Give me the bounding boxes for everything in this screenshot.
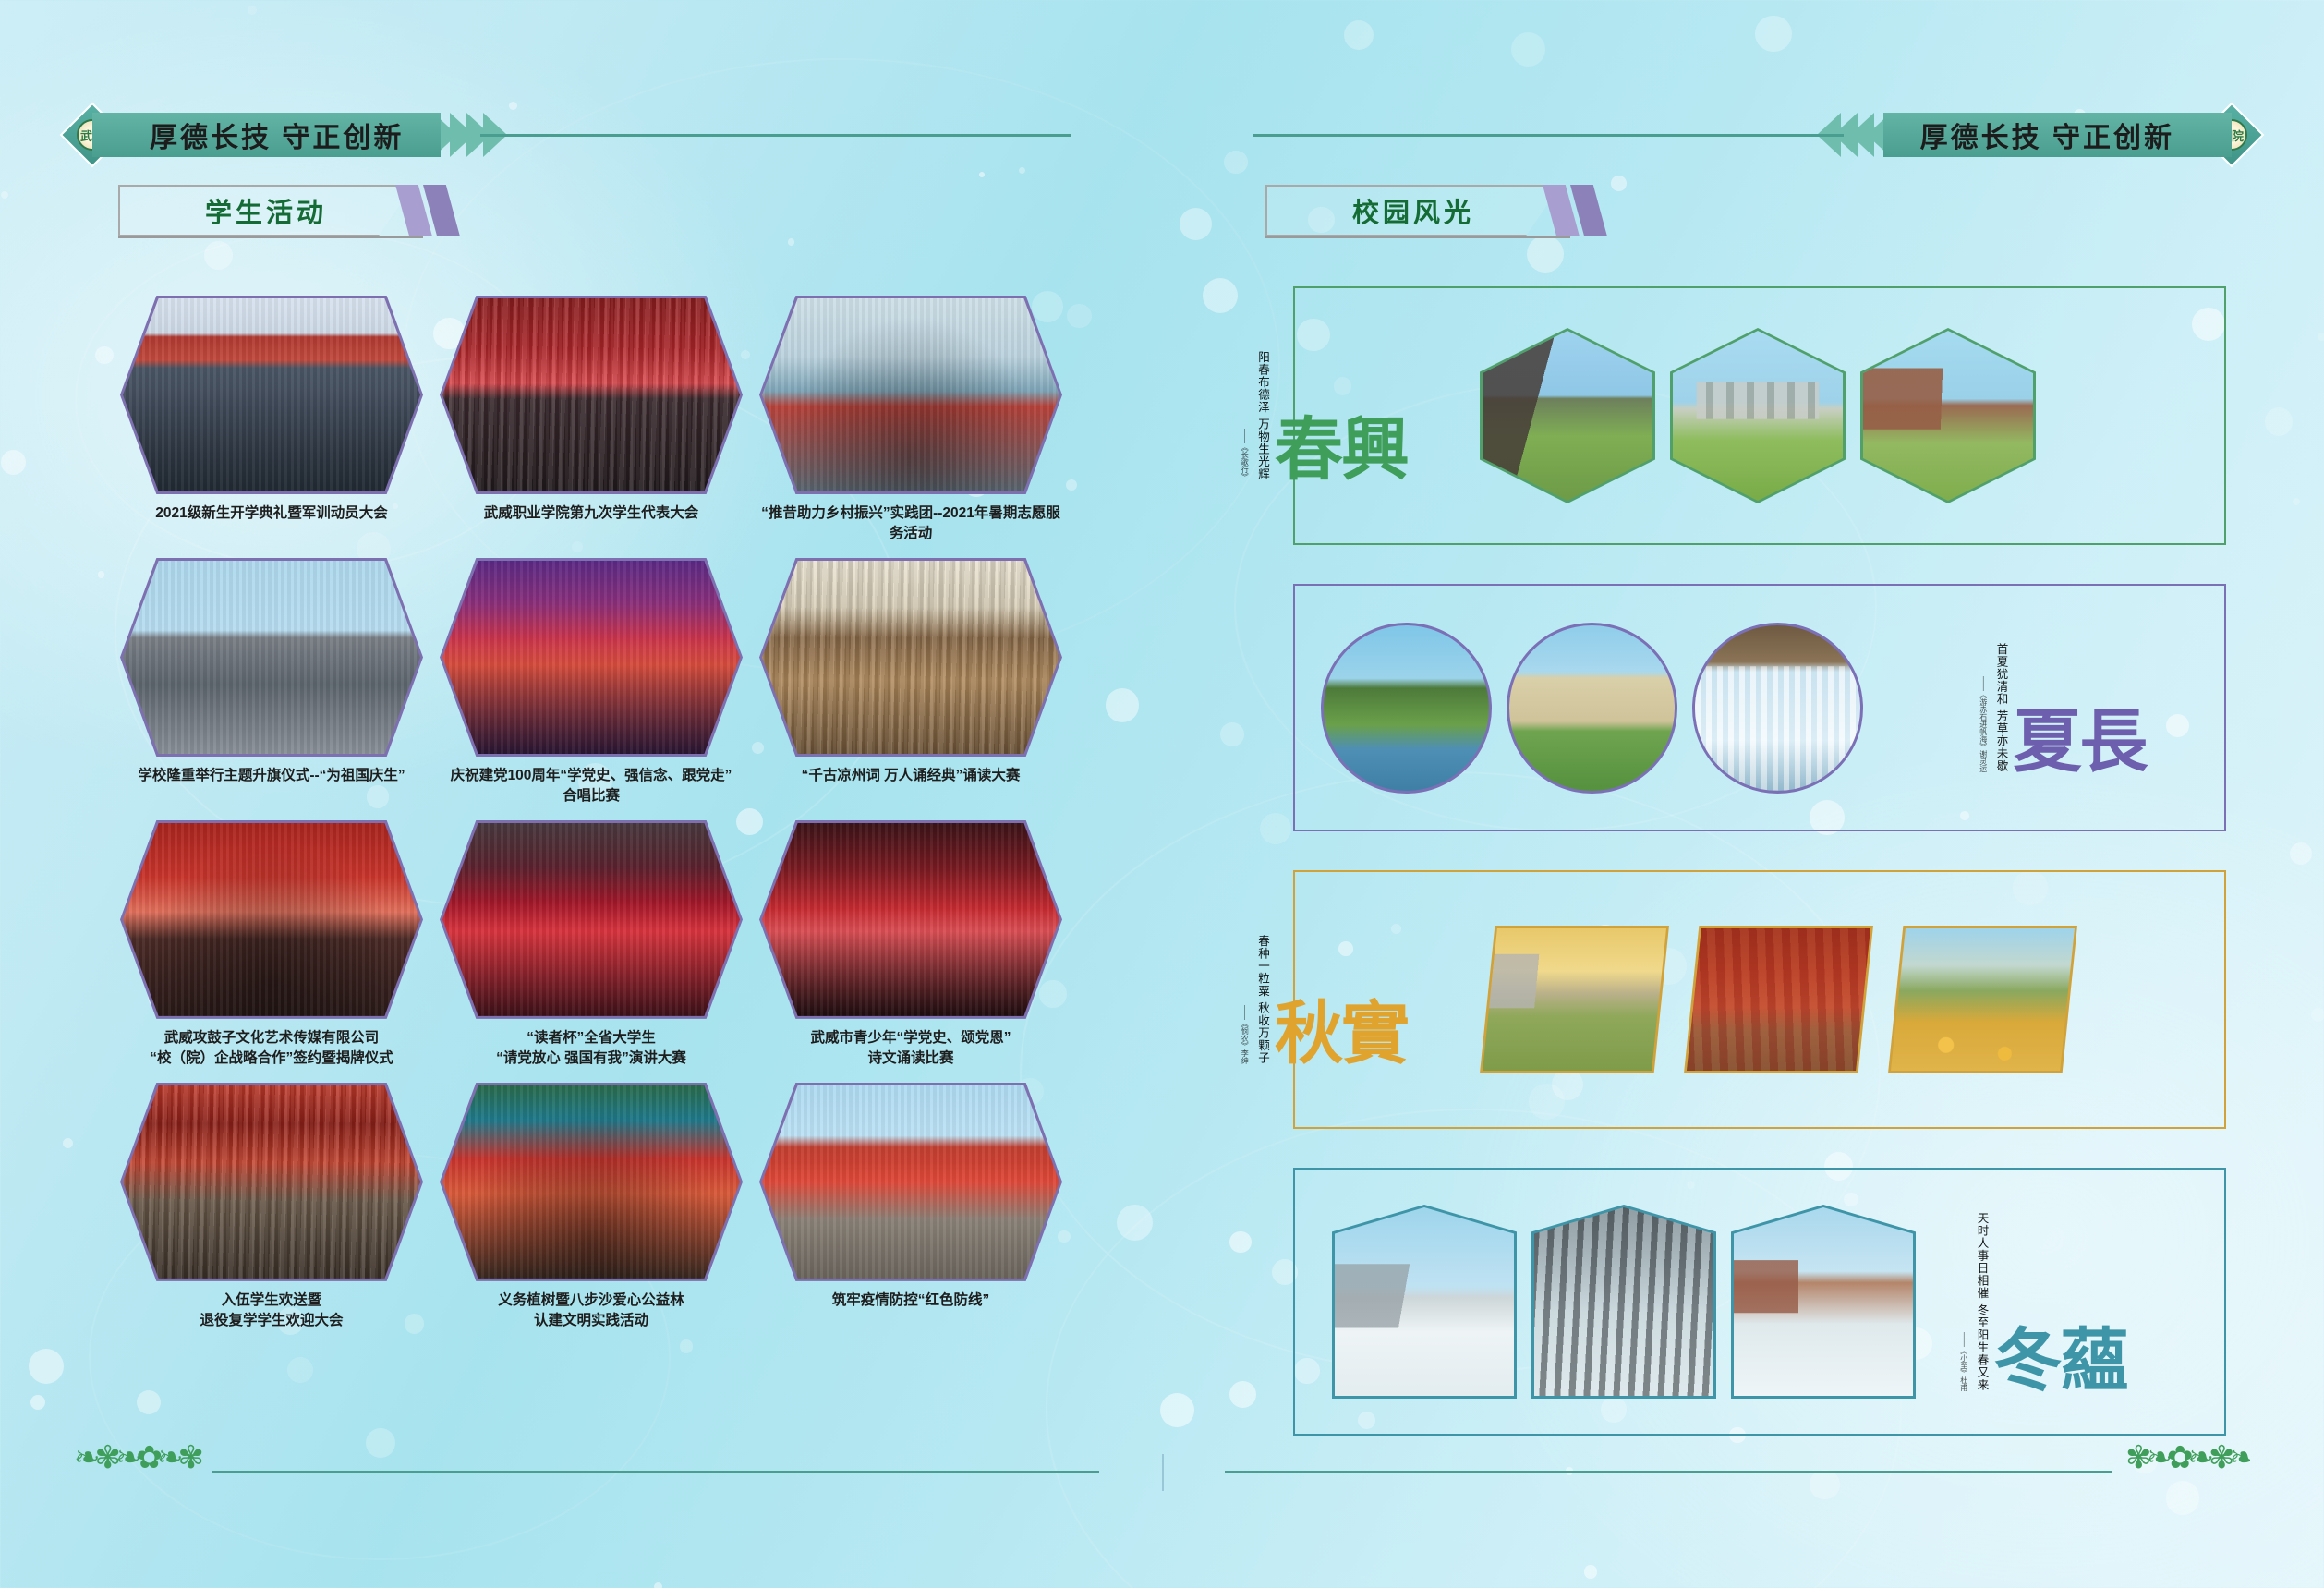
section-baseline-left bbox=[118, 236, 423, 238]
activity-caption: 庆祝建党100周年“学党史、强信念、跟党走” 合唱比赛 bbox=[440, 766, 743, 807]
activity-card[interactable]: 2021级新生开学典礼暨军训动员大会 bbox=[120, 296, 423, 545]
activity-card[interactable]: 入伍学生欢送暨 退役复学学生欢迎大会 bbox=[120, 1083, 423, 1332]
section-title-text-left: 学生活动 bbox=[205, 191, 327, 230]
header-rule-left bbox=[480, 134, 1071, 137]
vine-ornament-icon: ❧✾❧✿❧✾ bbox=[74, 1442, 231, 1499]
activity-row: 学校隆重举行主题升旗仪式--“为祖国庆生”庆祝建党100周年“学党史、强信念、跟… bbox=[120, 558, 1062, 807]
season-thumb[interactable] bbox=[1480, 328, 1655, 503]
activity-caption: 2021级新生开学典礼暨军训动员大会 bbox=[120, 503, 423, 524]
footer-rule-right bbox=[1225, 1471, 2112, 1473]
section-baseline-right bbox=[1265, 236, 1570, 238]
activity-card[interactable]: 筑牢疫情防控“红色防线” bbox=[759, 1083, 1062, 1332]
season-panel-winter: ——《小至》杜甫 天时人事日相催 冬至阳生春又来 冬蘊 bbox=[1293, 1168, 2226, 1436]
calligraphy-char-winter: 冬蘊 bbox=[1994, 1332, 2127, 1391]
calligraphy-char-summer: 夏長 bbox=[2014, 713, 2147, 772]
header-motto-bar-right: 厚德长技 守正创新 bbox=[1883, 113, 2232, 157]
season-panel-autumn: ——《悯农》李绅 春种一粒粟 秋收万颗子 秋實 bbox=[1293, 870, 2226, 1129]
activity-photo[interactable] bbox=[759, 296, 1062, 494]
calligraphy-cite-spring: ——《长歌行》 bbox=[1240, 429, 1250, 480]
page-gutter-divider bbox=[1162, 1454, 1164, 1491]
activity-photo[interactable] bbox=[120, 296, 423, 494]
section-title-plate-right: 校园风光 bbox=[1265, 185, 1561, 236]
activity-caption: 武威攻鼓子文化艺术传媒有限公司 “校（院）企战略合作”签约暨揭牌仪式 bbox=[120, 1028, 423, 1070]
activity-caption: 武威市青少年“学党史、颂党恩” 诗文诵读比赛 bbox=[759, 1028, 1062, 1070]
activity-caption: 义务植树暨八步沙爱心公益林 认建文明实践活动 bbox=[440, 1291, 743, 1332]
activity-photo[interactable] bbox=[120, 1083, 423, 1281]
activity-row: 入伍学生欢送暨 退役复学学生欢迎大会义务植树暨八步沙爱心公益林 认建文明实践活动… bbox=[120, 1083, 1062, 1332]
calligraphy-spring: ——《长歌行》 阳春布德泽 万物生光辉 春興 bbox=[1295, 288, 1471, 543]
calligraphy-autumn: ——《悯农》李绅 春种一粒粟 秋收万颗子 秋實 bbox=[1295, 872, 1471, 1127]
activity-photo[interactable] bbox=[440, 1083, 743, 1281]
activity-card[interactable]: 武威攻鼓子文化艺术传媒有限公司 “校（院）企战略合作”签约暨揭牌仪式 bbox=[120, 820, 423, 1070]
header-rule-right bbox=[1253, 134, 1844, 137]
season-thumbs-summer bbox=[1321, 586, 1863, 830]
season-thumb[interactable] bbox=[1731, 1205, 1916, 1399]
activity-photo[interactable] bbox=[120, 820, 423, 1019]
footer-rule-left bbox=[212, 1471, 1099, 1473]
calligraphy-poem-summer: 首夏犹清和 芳草亦未歇 bbox=[1992, 643, 2010, 772]
activity-card[interactable]: 武威职业学院第九次学生代表大会 bbox=[440, 296, 743, 545]
header-banner-right: 武院 厚德长技 守正创新 bbox=[1817, 113, 2255, 157]
section-title-plate-left: 学生活动 bbox=[118, 185, 414, 236]
activity-caption: 筑牢疫情防控“红色防线” bbox=[759, 1291, 1062, 1311]
activity-photo[interactable] bbox=[759, 558, 1062, 757]
activity-row: 武威攻鼓子文化艺术传媒有限公司 “校（院）企战略合作”签约暨揭牌仪式“读者杯”全… bbox=[120, 820, 1062, 1070]
calligraphy-cite-autumn: ——《悯农》李绅 bbox=[1240, 1005, 1250, 1064]
season-thumbs-autumn bbox=[1480, 872, 2077, 1127]
season-panel-summer: ——《游赤石进帆海》谢灵运 首夏犹清和 芳草亦未歇 夏長 bbox=[1293, 584, 2226, 831]
calligraphy-winter: ——《小至》杜甫 天时人事日相催 冬至阳生春又来 冬蘊 bbox=[2049, 1170, 2224, 1434]
activity-caption: “推昔助力乡村振兴”实践团--2021年暑期志愿服务活动 bbox=[759, 503, 1062, 545]
activity-caption: “千古凉州词 万人诵经典”诵读大赛 bbox=[759, 766, 1062, 786]
activity-card[interactable]: 学校隆重举行主题升旗仪式--“为祖国庆生” bbox=[120, 558, 423, 807]
brochure-page: 武院 厚德长技 守正创新 武院 厚德长技 守正创新 学生活动 bbox=[0, 0, 2324, 1588]
calligraphy-char-spring: 春興 bbox=[1275, 421, 1408, 480]
vine-ornament-icon: ✾❧✿❧✾❧ bbox=[2093, 1442, 2250, 1499]
calligraphy-char-autumn: 秋實 bbox=[1275, 1005, 1408, 1064]
season-thumb[interactable] bbox=[1692, 623, 1863, 794]
activity-photo[interactable] bbox=[440, 820, 743, 1019]
season-thumbs-winter bbox=[1332, 1170, 1916, 1434]
header-banner-left: 武院 厚德长技 守正创新 bbox=[69, 113, 507, 157]
calligraphy-cite-summer: ——《游赤石进帆海》谢灵运 bbox=[1979, 676, 1989, 772]
calligraphy-poem-winter: 天时人事日相催 冬至阳生春又来 bbox=[1973, 1212, 1991, 1391]
calligraphy-poem-spring: 阳春布德泽 万物生光辉 bbox=[1253, 351, 1271, 480]
activity-photo[interactable] bbox=[440, 558, 743, 757]
season-thumb[interactable] bbox=[1480, 926, 1669, 1073]
activity-photo[interactable] bbox=[440, 296, 743, 494]
activity-card[interactable]: 武威市青少年“学党史、颂党恩” 诗文诵读比赛 bbox=[759, 820, 1062, 1070]
activity-caption: “读者杯”全省大学生 “请党放心 强国有我”演讲大赛 bbox=[440, 1028, 743, 1070]
season-thumbs-spring bbox=[1480, 288, 2036, 543]
header-motto-bar-left: 厚德长技 守正创新 bbox=[92, 113, 441, 157]
activity-caption: 学校隆重举行主题升旗仪式--“为祖国庆生” bbox=[120, 766, 423, 786]
activity-photo-grid: 2021级新生开学典礼暨军训动员大会武威职业学院第九次学生代表大会“推昔助力乡村… bbox=[120, 296, 1062, 1345]
season-thumb[interactable] bbox=[1507, 623, 1677, 794]
activity-caption: 入伍学生欢送暨 退役复学学生欢迎大会 bbox=[120, 1291, 423, 1332]
season-thumb[interactable] bbox=[1670, 328, 1846, 503]
season-thumb[interactable] bbox=[1332, 1205, 1517, 1399]
season-thumb[interactable] bbox=[1531, 1205, 1716, 1399]
activity-card[interactable]: “千古凉州词 万人诵经典”诵读大赛 bbox=[759, 558, 1062, 807]
activity-card[interactable]: “读者杯”全省大学生 “请党放心 强国有我”演讲大赛 bbox=[440, 820, 743, 1070]
section-title-text-right: 校园风光 bbox=[1352, 191, 1474, 230]
section-title-campus-scenery: 校园风光 bbox=[1265, 185, 1616, 236]
section-title-student-activities: 学生活动 bbox=[118, 185, 469, 236]
activity-photo[interactable] bbox=[759, 820, 1062, 1019]
calligraphy-summer: ——《游赤石进帆海》谢灵运 首夏犹清和 芳草亦未歇 夏長 bbox=[2049, 586, 2224, 830]
calligraphy-cite-winter: ——《小至》杜甫 bbox=[1959, 1332, 1969, 1391]
season-thumb[interactable] bbox=[1888, 926, 2077, 1073]
header-motto-right: 厚德长技 守正创新 bbox=[1920, 115, 2174, 155]
activity-photo[interactable] bbox=[120, 558, 423, 757]
header-motto-left: 厚德长技 守正创新 bbox=[150, 115, 404, 155]
activity-card[interactable]: “推昔助力乡村振兴”实践团--2021年暑期志愿服务活动 bbox=[759, 296, 1062, 545]
season-thumb[interactable] bbox=[1321, 623, 1492, 794]
activity-card[interactable]: 庆祝建党100周年“学党史、强信念、跟党走” 合唱比赛 bbox=[440, 558, 743, 807]
season-thumb[interactable] bbox=[1684, 926, 1873, 1073]
activity-photo[interactable] bbox=[759, 1083, 1062, 1281]
calligraphy-poem-autumn: 春种一粒粟 秋收万颗子 bbox=[1253, 935, 1271, 1064]
season-panel-spring: ——《长歌行》 阳春布德泽 万物生光辉 春興 bbox=[1293, 286, 2226, 545]
activity-row: 2021级新生开学典礼暨军训动员大会武威职业学院第九次学生代表大会“推昔助力乡村… bbox=[120, 296, 1062, 545]
season-thumb[interactable] bbox=[1860, 328, 2036, 503]
activity-caption: 武威职业学院第九次学生代表大会 bbox=[440, 503, 743, 524]
activity-card[interactable]: 义务植树暨八步沙爱心公益林 认建文明实践活动 bbox=[440, 1083, 743, 1332]
